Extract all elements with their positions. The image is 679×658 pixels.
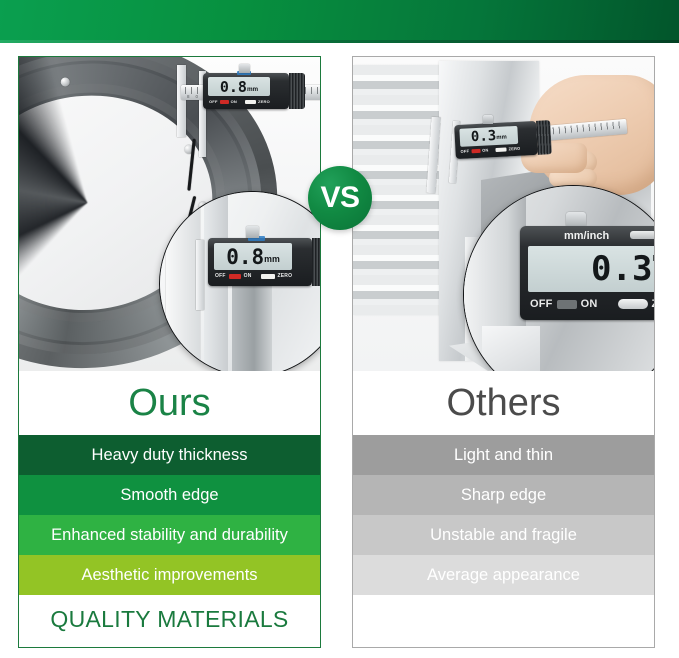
caliper-power-switch[interactable] xyxy=(471,148,480,152)
caliper-body: mm/inch 0.3 mm OFF ON ZERO xyxy=(520,226,654,320)
caliper-on-label: ON xyxy=(482,147,489,152)
caliper-unit: mm xyxy=(247,86,258,93)
digital-caliper-others: 0.3 mm OFF ON ZERO xyxy=(413,111,613,185)
digital-caliper-ours: 80 100 110 0.8 mm OFF ON ZERO xyxy=(155,63,320,155)
feature-row: Sharp edge xyxy=(353,475,654,515)
caliper-jaw xyxy=(177,65,186,137)
caliper-mode-label: mm/inch xyxy=(564,230,609,242)
feature-row: Smooth edge xyxy=(19,475,320,515)
caliper-off-label: OFF xyxy=(530,298,553,310)
top-accent-band xyxy=(0,0,679,43)
caliper-power-switch[interactable] xyxy=(220,100,229,104)
feature-row: Enhanced stability and durability xyxy=(19,515,320,555)
feature-row: Aesthetic improvements xyxy=(19,555,320,595)
caliper-body: 0.3 mm OFF ON ZERO xyxy=(454,121,538,159)
feature-row: Light and thin xyxy=(353,435,654,475)
caliper-unit: mm xyxy=(496,135,507,142)
caliper-button-row: OFF ON ZERO xyxy=(209,99,270,104)
caliper-power-switch[interactable] xyxy=(557,300,577,309)
caliper-reading: 0.8 xyxy=(226,245,264,269)
caliper-zero-button[interactable] xyxy=(495,147,506,152)
feature-label: Unstable and fragile xyxy=(430,526,577,545)
caliper-jaw xyxy=(196,240,204,310)
band-sheen xyxy=(0,40,679,43)
caliper-lcd-display: 0.3 mm xyxy=(459,126,518,147)
caliper-zero-button[interactable] xyxy=(261,274,275,279)
product-photo-others: 0.3 mm OFF ON ZERO xyxy=(353,57,654,371)
feature-row: Unstable and fragile xyxy=(353,515,654,555)
digital-caliper-closeup-ours: 0.8 mm OFF ON ZERO xyxy=(194,226,320,310)
caliper-thumb-wheel[interactable] xyxy=(312,238,320,286)
caliper-zero-label: ZERO xyxy=(278,273,293,279)
vs-badge: VS xyxy=(308,166,372,230)
caliper-on-label: ON xyxy=(244,273,252,279)
panel-others: 0.3 mm OFF ON ZERO xyxy=(352,56,655,648)
caliper-reading: 0.3 xyxy=(471,128,497,145)
caliper-lcd-display: 0.3 mm xyxy=(528,246,654,292)
caliper-body: 0.8 mm OFF ON ZERO xyxy=(208,238,312,286)
caliper-zero-button[interactable] xyxy=(245,100,256,104)
feature-row: Heavy duty thickness xyxy=(19,435,320,475)
caliper-button-row: OFF ON ZERO xyxy=(215,273,292,279)
panel-title-ours: Ours xyxy=(19,371,320,435)
caliper-zero-label: ZERO xyxy=(258,99,270,104)
caliper-unit: mm xyxy=(652,252,654,264)
caliper-off-label: OFF xyxy=(209,99,218,104)
caliper-button-row: OFF ON ZERO xyxy=(460,146,520,154)
caliper-thumb-wheel[interactable] xyxy=(289,73,305,109)
caliper-zero-label: ZERO xyxy=(652,298,654,310)
feature-label: Smooth edge xyxy=(120,486,218,505)
panel-ours: 80 100 110 0.8 mm OFF ON ZERO xyxy=(18,56,321,648)
caliper-zero-button[interactable] xyxy=(618,299,648,309)
feature-label: Heavy duty thickness xyxy=(92,446,248,465)
caliper-button-row: OFF ON ZERO xyxy=(530,298,654,310)
caliper-reading: 0.3 xyxy=(591,249,652,289)
magnifier-inset-ours: 0.8 mm OFF ON ZERO xyxy=(159,191,320,371)
caliper-zero-label: ZERO xyxy=(508,146,520,152)
caliper-on-label: ON xyxy=(581,298,598,310)
caliper-lcd-display: 0.8 mm xyxy=(214,243,292,270)
feature-label: Aesthetic improvements xyxy=(81,566,257,585)
caliper-off-label: OFF xyxy=(215,273,226,279)
caliper-depth-knob[interactable] xyxy=(246,226,259,238)
feature-label: Sharp edge xyxy=(461,486,546,505)
digital-caliper-closeup-others: mm/inch 0.3 mm OFF ON ZERO xyxy=(510,212,654,342)
feature-label: Enhanced stability and durability xyxy=(51,526,288,545)
comparison-table-ours: Ours Heavy duty thickness Smooth edge En… xyxy=(19,371,320,643)
caliper-jaw xyxy=(426,117,440,193)
caliper-unit: mm xyxy=(264,254,280,264)
panel-footer-others xyxy=(353,595,654,643)
feature-label: Average appearance xyxy=(427,566,580,585)
caliper-power-switch[interactable] xyxy=(229,274,241,279)
caliper-body: 0.8 mm OFF ON ZERO xyxy=(203,73,289,109)
feature-label: Light and thin xyxy=(454,446,553,465)
panel-title-others: Others xyxy=(353,371,654,435)
vs-label: VS xyxy=(320,181,359,215)
caliper-lcd-display: 0.8 mm xyxy=(208,77,270,96)
caliper-depth-knob[interactable] xyxy=(483,115,493,124)
magnifier-inset-others: mm/inch 0.3 mm OFF ON ZERO xyxy=(463,185,654,371)
caliper-off-label: OFF xyxy=(460,148,469,153)
feature-row: Average appearance xyxy=(353,555,654,595)
product-photo-ours: 80 100 110 0.8 mm OFF ON ZERO xyxy=(19,57,320,371)
caliper-mode-button[interactable] xyxy=(630,231,654,239)
comparison-infographic: 80 100 110 0.8 mm OFF ON ZERO xyxy=(0,0,679,658)
panel-footer-ours: QUALITY MATERIALS xyxy=(19,595,320,643)
caliper-on-label: ON xyxy=(231,99,237,104)
caliper-thumb-wheel[interactable] xyxy=(536,120,552,155)
caliper-reading: 0.8 xyxy=(220,78,247,96)
comparison-table-others: Others Light and thin Sharp edge Unstabl… xyxy=(353,371,654,643)
caliper-depth-knob[interactable] xyxy=(239,64,250,73)
